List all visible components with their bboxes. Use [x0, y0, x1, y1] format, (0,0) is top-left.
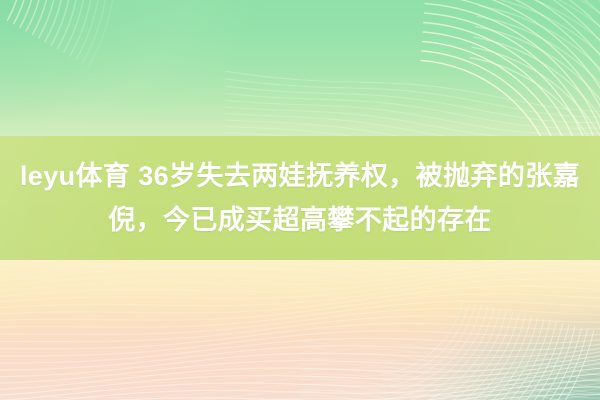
- promo-banner: leyu体育 36岁失去两娃抚养权，被抛弃的张嘉 倪，今已成买超高攀不起的存在: [0, 0, 600, 400]
- headline-line-2: 倪，今已成买超高攀不起的存在: [108, 200, 492, 240]
- arc-lines-top-left-icon: [0, 0, 210, 155]
- headline-line-1: leyu体育 36岁失去两娃抚养权，被抛弃的张嘉: [20, 156, 580, 196]
- arc-lines-bottom-right-icon: [300, 250, 600, 400]
- headline-text: leyu体育 36岁失去两娃抚养权，被抛弃的张嘉 倪，今已成买超高攀不起的存在: [0, 136, 600, 260]
